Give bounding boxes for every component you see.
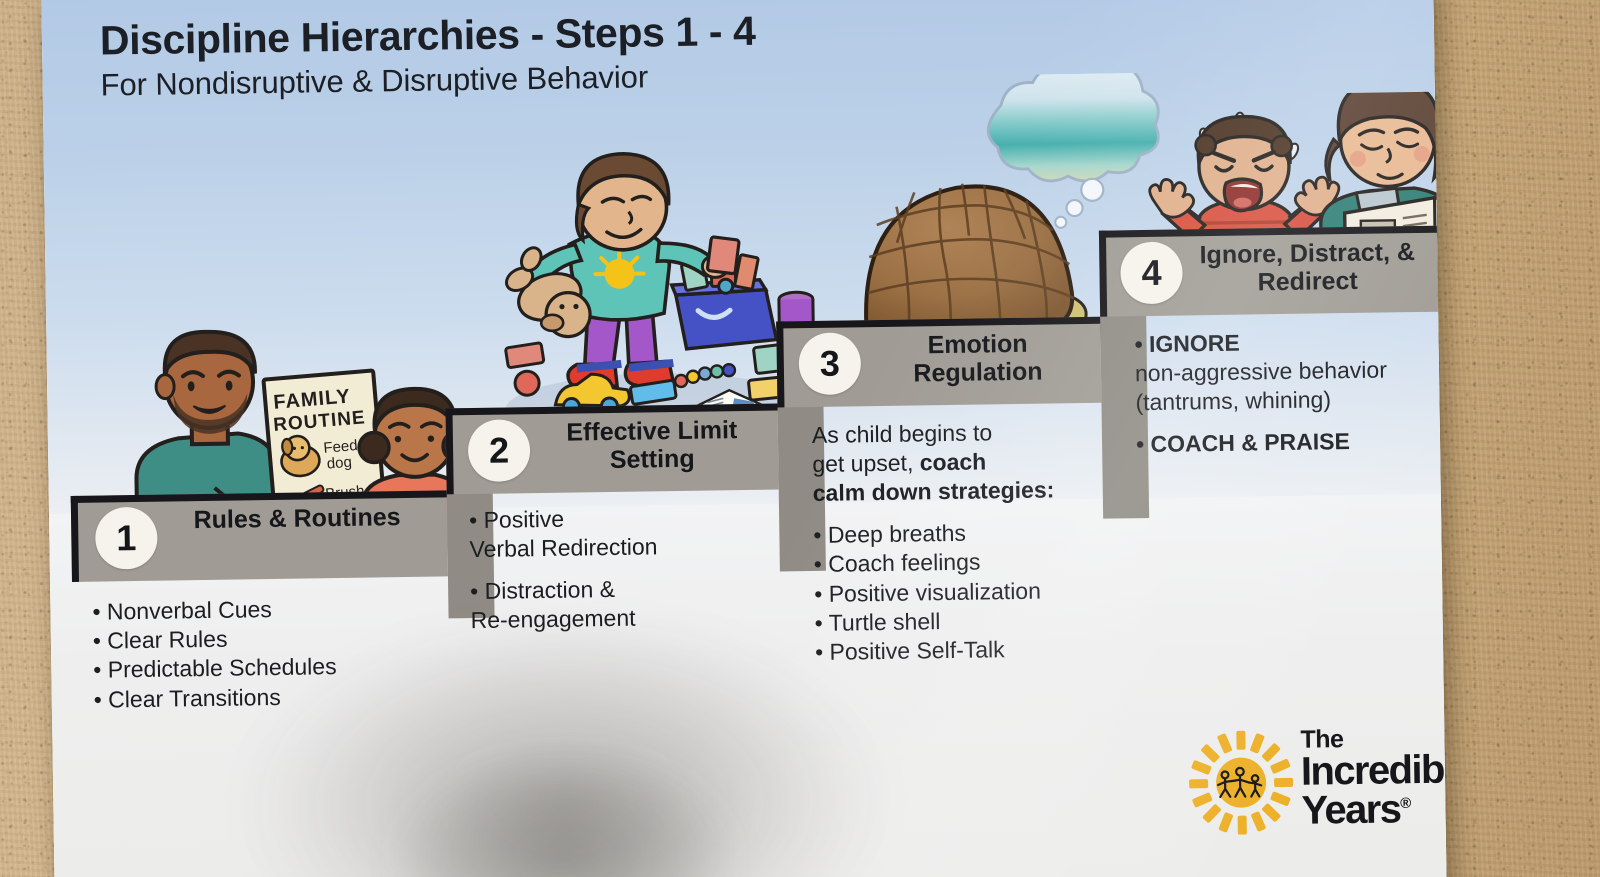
step-2-title-line-1: Effective [566, 417, 671, 447]
step-3-intro-plain: get upset, [812, 450, 920, 478]
step-1-title-line-1: Rules [193, 505, 262, 534]
illustration-step-2 [482, 143, 826, 448]
step-2-bullet-1: • Positive [469, 502, 769, 536]
step-3-intro-line-2: get upset, coach [812, 446, 1112, 480]
step-4-title-line-1: Ignore, Distract, [1199, 238, 1390, 269]
step-3-intro-line-3: calm down strategies: [813, 475, 1113, 509]
step-2-bullet-2-cont: Re-engagement [470, 602, 770, 636]
step-2-bullet-2: • Distraction & [470, 573, 770, 607]
step-3-title-line-2: Regulation [913, 358, 1043, 388]
step-1-body: • Nonverbal Cues • Clear Rules • Predict… [92, 592, 454, 714]
step-4-title: Ignore, Distract, & Redirect [1185, 238, 1430, 298]
step-3-bullet-1: • Deep breaths [813, 517, 1113, 551]
poster-sheet: Discipline Hierarchies - Steps 1 - 4 For… [41, 0, 1446, 877]
poster-title: Discipline Hierarchies - Steps 1 - 4 [100, 8, 756, 65]
logo-wordmark: The Incredible Years® [1300, 725, 1446, 830]
step-4-body: • IGNORE non-aggressive behavior (tantru… [1134, 326, 1446, 460]
step-3-bullet-3: • Positive visualization [814, 575, 1114, 609]
svg-text:dog: dog [326, 454, 352, 473]
logo-line-years: Years® [1301, 789, 1446, 831]
registered-mark: ® [1400, 795, 1410, 812]
step-2-bullet-1-cont: Verbal Redirection [469, 531, 769, 565]
logo-years-text: Years [1301, 787, 1400, 832]
step-3-body: As child begins to get upset, coach calm… [812, 417, 1116, 668]
step-3-bullet-2: • Coach feelings [814, 546, 1114, 580]
step-3-intro-line-1: As child begins to [812, 417, 1112, 451]
step-3-bullet-5: • Positive Self-Talk [815, 634, 1115, 668]
step-1-title-line-2: & Routines [268, 503, 400, 533]
logo-line-incredible: Incredible [1301, 750, 1447, 792]
step-4-bullet-2: • COACH & PRAISE [1136, 426, 1446, 460]
step-3-bullet-4: • Turtle shell [814, 604, 1114, 638]
step-2-body: • Positive Verbal Redirection • Distract… [469, 502, 771, 636]
step-1-title: Rules & Routines [161, 503, 433, 535]
step-3-title-line-1: Emotion [927, 330, 1027, 359]
sun-icon [1188, 730, 1294, 836]
step-2-title: Effective Limit Setting [534, 416, 771, 475]
step-3-intro-bold-a: coach [920, 449, 987, 476]
step-1-bullet-4: • Clear Transitions [94, 680, 454, 715]
camera-shadow-core [353, 744, 776, 877]
incredible-years-logo: The Incredible Years® [1182, 721, 1446, 836]
step-4-bullet-1-detail-a: non-aggressive behavior [1135, 355, 1445, 389]
step-3-title: Emotion Regulation [864, 329, 1091, 388]
step-4-bullet-1: • IGNORE [1134, 326, 1444, 360]
step-4-bullet-1-detail-b: (tantrums, whining) [1135, 384, 1445, 418]
